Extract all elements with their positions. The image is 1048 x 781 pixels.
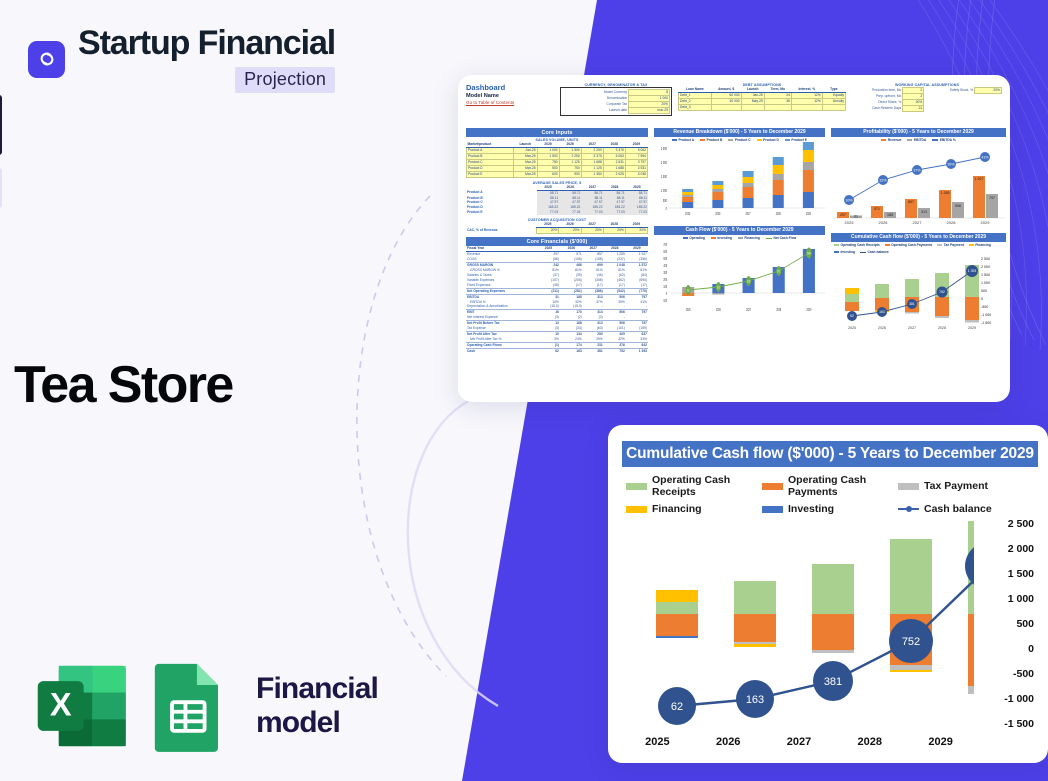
svg-text:2 500: 2 500: [661, 145, 668, 151]
svg-text:2027: 2027: [908, 326, 916, 330]
svg-text:2025: 2025: [848, 326, 856, 330]
cell: 1 393: [626, 348, 648, 353]
svg-text:185: 185: [887, 213, 893, 217]
legend-swatch: [762, 506, 783, 513]
model-name-label: Model Name: [466, 93, 554, 99]
chart-title: Cumulative Cash flow ($'000) - 5 Years t…: [622, 441, 1038, 467]
core-financials-band: Core Financials ($'000): [466, 237, 648, 246]
chart-plot: 700600500400 3002001000-100: [654, 240, 825, 314]
cumulative-cashflow-chart: Cumulative Cash flow ($'000) - 5 Years t…: [622, 441, 1038, 755]
bar-group-2025: [656, 590, 698, 638]
svg-text:506: 506: [955, 204, 961, 208]
legend-item: Operating Cash Payments: [762, 474, 898, 498]
svg-text:571: 571: [874, 207, 880, 211]
dashboard-heading: Dashboard Model Name Go to Table of Cont…: [466, 83, 554, 105]
y-tick: 2 000: [1008, 543, 1034, 555]
format-label: Financial model: [256, 672, 460, 740]
working-capital-block: WORKING CAPITAL ASSUMPTIONS Production t…: [852, 83, 1002, 112]
x-tick: 2027: [764, 736, 835, 748]
assumption-value[interactable]: 21: [903, 105, 924, 111]
cell[interactable]: 20%: [625, 228, 647, 234]
x-axis-labels: 2025 2026 2027 2028 2029: [622, 736, 976, 748]
assumption-label: Cash Reserve Days: [852, 105, 903, 111]
table-row: Cash Reserve Days 21: [852, 105, 1002, 111]
cell: 77.03: [559, 210, 581, 215]
svg-text:32%: 32%: [879, 178, 887, 182]
svg-text:2026: 2026: [716, 307, 721, 312]
chart-plot-area: 62 163 381 752 1 393 2 500 2 000 1 500 1…: [622, 521, 1038, 746]
cell: 77.03: [604, 210, 626, 215]
legend-label: Investing: [788, 503, 834, 515]
legend-label: Tax Payment: [924, 480, 988, 492]
format-badges: X Financial model: [32, 658, 460, 754]
cell: 77.03: [537, 210, 559, 215]
left-panel: Startup Financial Projection Tea Store X: [0, 0, 460, 781]
svg-text:X: X: [50, 687, 72, 723]
debt-assumptions-block: DEBT ASSUMPTIONS Loan Name Amount, $ Lau…: [678, 83, 846, 111]
cell: 752: [604, 348, 626, 353]
legend-label: Operating Cash Receipts: [841, 243, 880, 247]
brand-lockup: Startup Financial Projection: [28, 26, 335, 93]
sales-volume-table: Market/product Launch 2025 2026 2027 202…: [466, 142, 648, 178]
svg-text:2026: 2026: [878, 326, 886, 330]
cell[interactable]: [822, 104, 845, 110]
point-label: 163: [746, 694, 764, 706]
svg-text:1 500: 1 500: [981, 273, 990, 277]
legend-label: Financing: [652, 503, 702, 515]
svg-text:37%: 37%: [913, 168, 921, 172]
svg-text:400: 400: [663, 263, 667, 268]
row-label: Product E: [466, 210, 537, 215]
chart-plot: 2 5002 0001 5001 000 5000-500-1 000-1 50…: [831, 254, 1006, 330]
svg-text:752: 752: [939, 290, 945, 294]
dashboard-preview-card[interactable]: Dashboard Model Name Go to Table of Cont…: [458, 75, 1010, 402]
y-tick: -1 000: [1004, 693, 1034, 705]
core-financials-table: Fiscal Year 2025 2026 2027 2028 2029 Rev…: [466, 246, 648, 354]
table-row: Cash621633817521 393: [466, 348, 648, 353]
core-inputs-panel: Core Inputs SALES VOLUME, UNITS Market/p…: [466, 128, 648, 354]
dashboard-charts: Revenue Breakdown ($'000) - 5 Years to D…: [654, 128, 825, 354]
legend-item: Financing: [626, 503, 762, 515]
table-row: Variable Expenses(107)(206)(308)(462)(69…: [466, 278, 648, 283]
cell[interactable]: 20%: [603, 228, 625, 234]
assumption-label: Launch date: [562, 107, 629, 113]
svg-text:62: 62: [687, 288, 689, 293]
cumulative-cashflow-chart-mini[interactable]: Cumulative Cash flow ($'000) - 5 Years t…: [831, 233, 1006, 335]
chart-title: Cash Flow ($'000) - 5 Years to December …: [654, 226, 825, 235]
svg-text:1 927: 1 927: [975, 177, 984, 181]
svg-text:31: 31: [854, 215, 858, 219]
svg-text:297: 297: [840, 213, 846, 217]
svg-text:797: 797: [989, 196, 995, 200]
svg-text:-1 000: -1 000: [981, 313, 991, 317]
table-row: Net Profit After Tax %3%24%29%32%33%: [466, 337, 648, 342]
svg-text:2 000: 2 000: [661, 159, 668, 165]
legend-swatch: [626, 506, 647, 513]
cashflow-chart[interactable]: Cash Flow ($'000) - 5 Years to December …: [654, 226, 825, 319]
bar-group-2027: [812, 564, 854, 653]
table-row: Product E77.0377.0377.0377.0377.03: [466, 210, 648, 215]
legend-item: Tax Payment: [898, 474, 1034, 498]
y-tick: -500: [1013, 668, 1034, 680]
svg-text:2027: 2027: [913, 220, 923, 225]
brand-subtitle: Projection: [235, 67, 335, 93]
currency-assumptions-block: CURRENCY, DENOMINATOR & TAX Model Curren…: [560, 83, 672, 116]
google-sheets-icon: [151, 658, 226, 754]
x-tick: 2028: [834, 736, 905, 748]
svg-text:62: 62: [850, 314, 854, 318]
point-label: 752: [902, 636, 920, 648]
circular-link-icon: [28, 41, 65, 78]
cell[interactable]: [764, 104, 791, 110]
chart-legend: Operating Cash Receipts Operating Cash P…: [831, 243, 1006, 254]
svg-text:1 500: 1 500: [661, 173, 668, 179]
assumption-value[interactable]: mar-25: [629, 107, 670, 113]
svg-text:857: 857: [908, 200, 914, 204]
cell[interactable]: [791, 104, 822, 110]
svg-text:39%: 39%: [947, 162, 955, 166]
legend-label: Operating Cash Receipts: [652, 474, 762, 498]
svg-text:2028: 2028: [947, 220, 957, 225]
cell: 77.03: [626, 210, 648, 215]
legend-item: Operating Cash Receipts: [626, 474, 762, 498]
svg-text:1 000: 1 000: [661, 187, 668, 193]
chart-title: Cumulative Cash flow ($'000) - 5 Years t…: [831, 233, 1006, 242]
table-row: Operating Cash Flows(1)174231376642: [466, 343, 648, 349]
brand-title: Startup Financial: [78, 26, 335, 62]
cell[interactable]: 900: [559, 171, 581, 177]
svg-text:2029: 2029: [807, 307, 812, 312]
svg-text:10%: 10%: [845, 198, 853, 202]
dashboard-sheet: Dashboard Model Name Go to Table of Cont…: [466, 83, 1006, 398]
cell[interactable]: 3 038: [625, 171, 647, 177]
cell[interactable]: Debt_3: [679, 104, 712, 110]
svg-text:500: 500: [663, 197, 668, 203]
row-label: Cash: [466, 348, 537, 353]
svg-text:313: 313: [921, 210, 927, 214]
svg-text:2027: 2027: [746, 307, 751, 312]
svg-text:218: 218: [747, 279, 751, 284]
table-row: Launch datemar-25: [562, 107, 670, 113]
svg-text:300: 300: [663, 270, 667, 275]
toc-link[interactable]: Go to Table of Contents: [466, 100, 554, 105]
y-tick: 500: [1016, 618, 1034, 630]
svg-text:2026: 2026: [715, 211, 720, 216]
svg-text:2028: 2028: [938, 326, 946, 330]
svg-text:2026: 2026: [879, 220, 889, 225]
y-tick: 0: [1028, 643, 1034, 655]
y-axis-labels: 2 500 2 000 1 500 1 000 500 0 -500 -1 00…: [978, 521, 1038, 746]
cell[interactable]: 20%: [537, 228, 559, 234]
chart-title: Profitability ($'000) - 5 Years to Decem…: [831, 128, 1006, 137]
svg-text:381: 381: [909, 302, 915, 306]
cell[interactable]: 20%: [581, 228, 603, 234]
y-tick: 1 500: [1008, 568, 1034, 580]
page-title: Tea Store: [14, 355, 233, 415]
dashboard-charts-right: Profitability ($'000) - 5 Years to Decem…: [831, 128, 1006, 354]
svg-text:600: 600: [663, 249, 667, 254]
x-tick: 2025: [622, 736, 693, 748]
dashboard-title: Dashboard: [466, 83, 554, 92]
svg-text:2 500: 2 500: [981, 257, 990, 261]
legend-label: Operating Cash Payments: [788, 474, 898, 498]
x-tick: 2029: [905, 736, 976, 748]
cell[interactable]: [741, 104, 764, 110]
cell[interactable]: 600: [537, 171, 559, 177]
svg-text:0: 0: [666, 291, 667, 296]
cell[interactable]: 2 025: [603, 171, 625, 177]
svg-text:2029: 2029: [981, 220, 991, 225]
legend-label: Operating Cash Payments: [891, 243, 932, 247]
svg-text:1 285: 1 285: [941, 191, 950, 195]
svg-text:101: 101: [717, 285, 721, 290]
cell: 163: [560, 348, 583, 353]
svg-text:640: 640: [807, 251, 811, 256]
revenue-breakdown-chart[interactable]: Revenue Breakdown ($'000) - 5 Years to D…: [654, 128, 825, 223]
legend-item: Investing: [762, 503, 898, 515]
bar-group-2029: [968, 521, 974, 694]
svg-text:2029: 2029: [806, 211, 811, 216]
chart-svg: 62 163 381 752 1 393: [622, 521, 974, 746]
cell[interactable]: Product E: [467, 171, 514, 177]
table-row: Product EMar-256009001 3502 0253 038: [467, 171, 648, 177]
chart-plot: 2 5002 0001 500 1 0005000 202520: [654, 142, 825, 218]
cell[interactable]: 20%: [559, 228, 581, 234]
svg-text:0: 0: [981, 297, 983, 301]
legend-label: Cash balance: [924, 503, 992, 515]
legend-label: Financing: [975, 243, 991, 247]
svg-text:-100: -100: [663, 298, 667, 303]
table-row: Net Operating Expenses(211)(281)(386)(54…: [466, 288, 648, 294]
svg-text:1 000: 1 000: [981, 281, 990, 285]
bar-group-2026: [734, 581, 776, 647]
cell: 381: [583, 348, 604, 353]
cell[interactable]: [711, 104, 741, 110]
cumulative-cashflow-card[interactable]: Cumulative Cash flow ($'000) - 5 Years t…: [608, 425, 1048, 763]
row-label: CAC, % of Revenue: [466, 228, 537, 234]
profitability-chart[interactable]: Profitability ($'000) - 5 Years to Decem…: [831, 128, 1006, 230]
svg-text:-1 500: -1 500: [981, 321, 991, 325]
cell[interactable]: Mar-25: [514, 171, 538, 177]
legend-label: Tax Payment: [944, 243, 964, 247]
point-label: 62: [671, 701, 683, 713]
avg-price-table: 2025 2026 2027 2028 2029 Product A58.715…: [466, 185, 648, 216]
microsoft-excel-icon: X: [32, 658, 133, 754]
legend-swatch: [762, 483, 783, 490]
svg-text:200: 200: [663, 277, 667, 282]
svg-text:500: 500: [663, 256, 667, 261]
svg-text:2029: 2029: [968, 326, 976, 330]
svg-text:2028: 2028: [776, 307, 781, 312]
core-inputs-band: Core Inputs: [466, 128, 648, 137]
cell[interactable]: 1 350: [581, 171, 603, 177]
chart-legend: Operating Cash Receipts Operating Cash P…: [622, 474, 1038, 515]
svg-text:500: 500: [981, 289, 987, 293]
svg-text:1 393: 1 393: [968, 269, 977, 273]
point-label: 381: [824, 676, 842, 688]
svg-text:2027: 2027: [746, 211, 751, 216]
svg-text:2025: 2025: [685, 211, 690, 216]
table-row: Debt_3: [679, 104, 846, 110]
legend-item: Cash balance: [898, 503, 1034, 515]
y-tick: 2 500: [1008, 518, 1034, 530]
cell: 77.03: [581, 210, 603, 215]
svg-text:2028: 2028: [776, 211, 781, 216]
svg-text:41%: 41%: [981, 155, 989, 159]
cell: 62: [537, 348, 560, 353]
cac-table: 2025 2026 2027 2028 2029 CAC, % of Reven…: [466, 222, 648, 234]
chart-plot: 29731 571185 857313 1 285506 1 927797: [831, 142, 1006, 225]
svg-text:700: 700: [663, 242, 667, 247]
svg-text:-500: -500: [981, 305, 988, 309]
svg-text:2 000: 2 000: [981, 265, 990, 269]
table-row: CAC, % of Revenue 20% 20% 20% 20% 20%: [466, 228, 648, 234]
svg-text:0: 0: [666, 205, 668, 211]
svg-text:371: 371: [777, 269, 781, 274]
svg-text:2025: 2025: [845, 220, 855, 225]
legend-swatch: [626, 483, 647, 490]
chart-title: Revenue Breakdown ($'000) - 5 Years to D…: [654, 128, 825, 137]
y-tick: -1 500: [1004, 718, 1034, 730]
legend-line: [898, 508, 919, 510]
svg-text:100: 100: [663, 284, 667, 289]
legend-swatch: [898, 483, 919, 490]
x-tick: 2026: [693, 736, 764, 748]
svg-text:163: 163: [879, 310, 885, 314]
svg-text:2025: 2025: [686, 307, 691, 312]
y-tick: 1 000: [1008, 593, 1034, 605]
